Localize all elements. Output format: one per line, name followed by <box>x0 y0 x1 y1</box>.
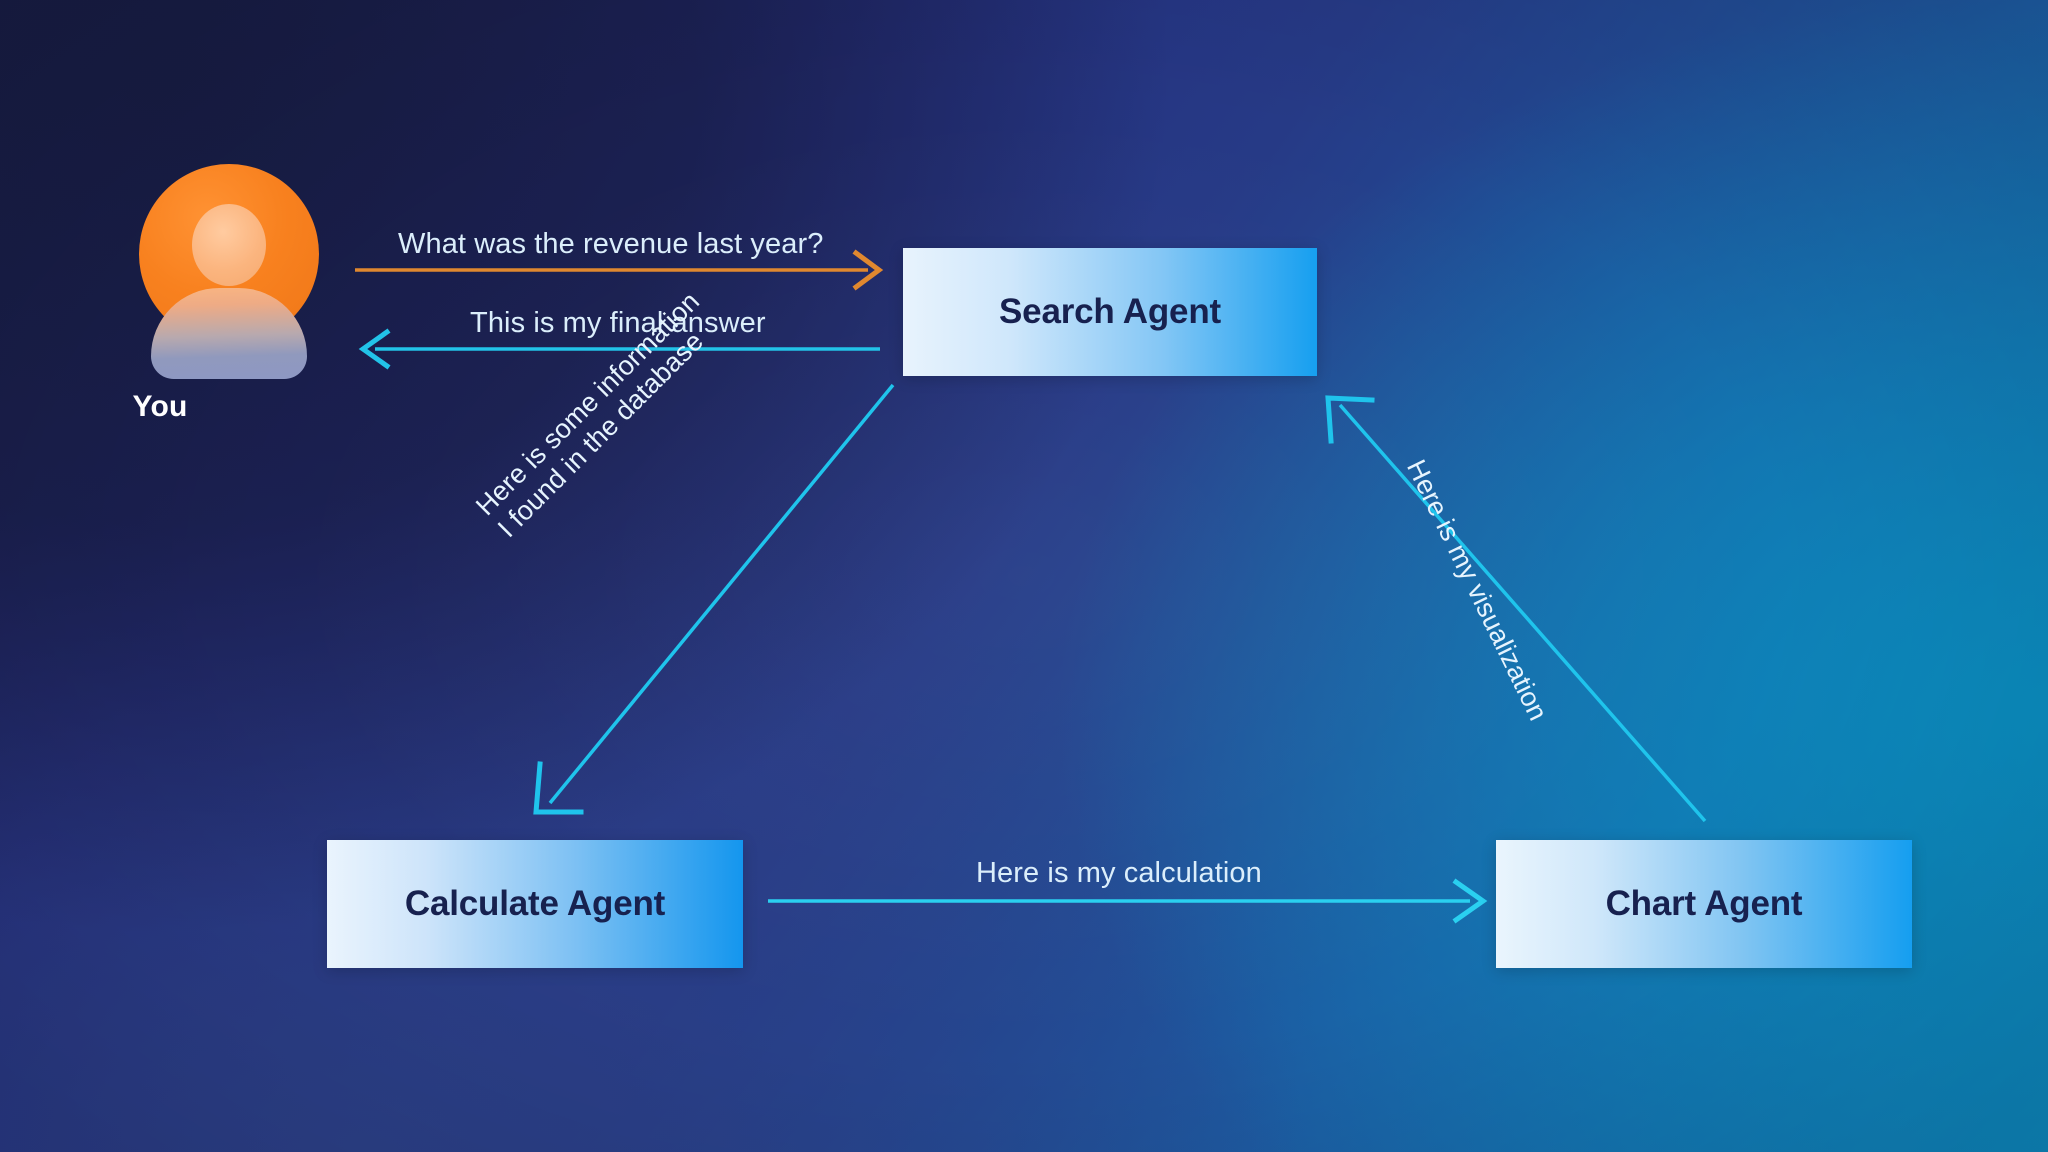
node-calculate-agent-label: Calculate Agent <box>405 884 665 924</box>
node-search-agent-label: Search Agent <box>999 292 1221 332</box>
avatar-head-icon <box>192 204 266 286</box>
node-calculate-agent[interactable]: Calculate Agent <box>327 840 743 968</box>
edge-label-search-to-calculate-line2: I found in the database <box>492 308 728 544</box>
node-chart-agent[interactable]: Chart Agent <box>1496 840 1912 968</box>
node-chart-agent-label: Chart Agent <box>1606 884 1803 924</box>
edge-label-calculate-to-chart: Here is my calculation <box>976 857 1262 890</box>
edge-label-chart-to-search: Here is my visualization <box>1400 455 1554 726</box>
diagram-canvas: You Search Agent Calculate Agent Chart A… <box>0 0 2048 1152</box>
node-search-agent[interactable]: Search Agent <box>903 248 1317 376</box>
user-label: You <box>0 390 320 424</box>
user-avatar <box>139 164 319 379</box>
edge-label-user-to-search: What was the revenue last year? <box>398 228 823 261</box>
arrow-chart-to-search <box>1328 398 1705 821</box>
